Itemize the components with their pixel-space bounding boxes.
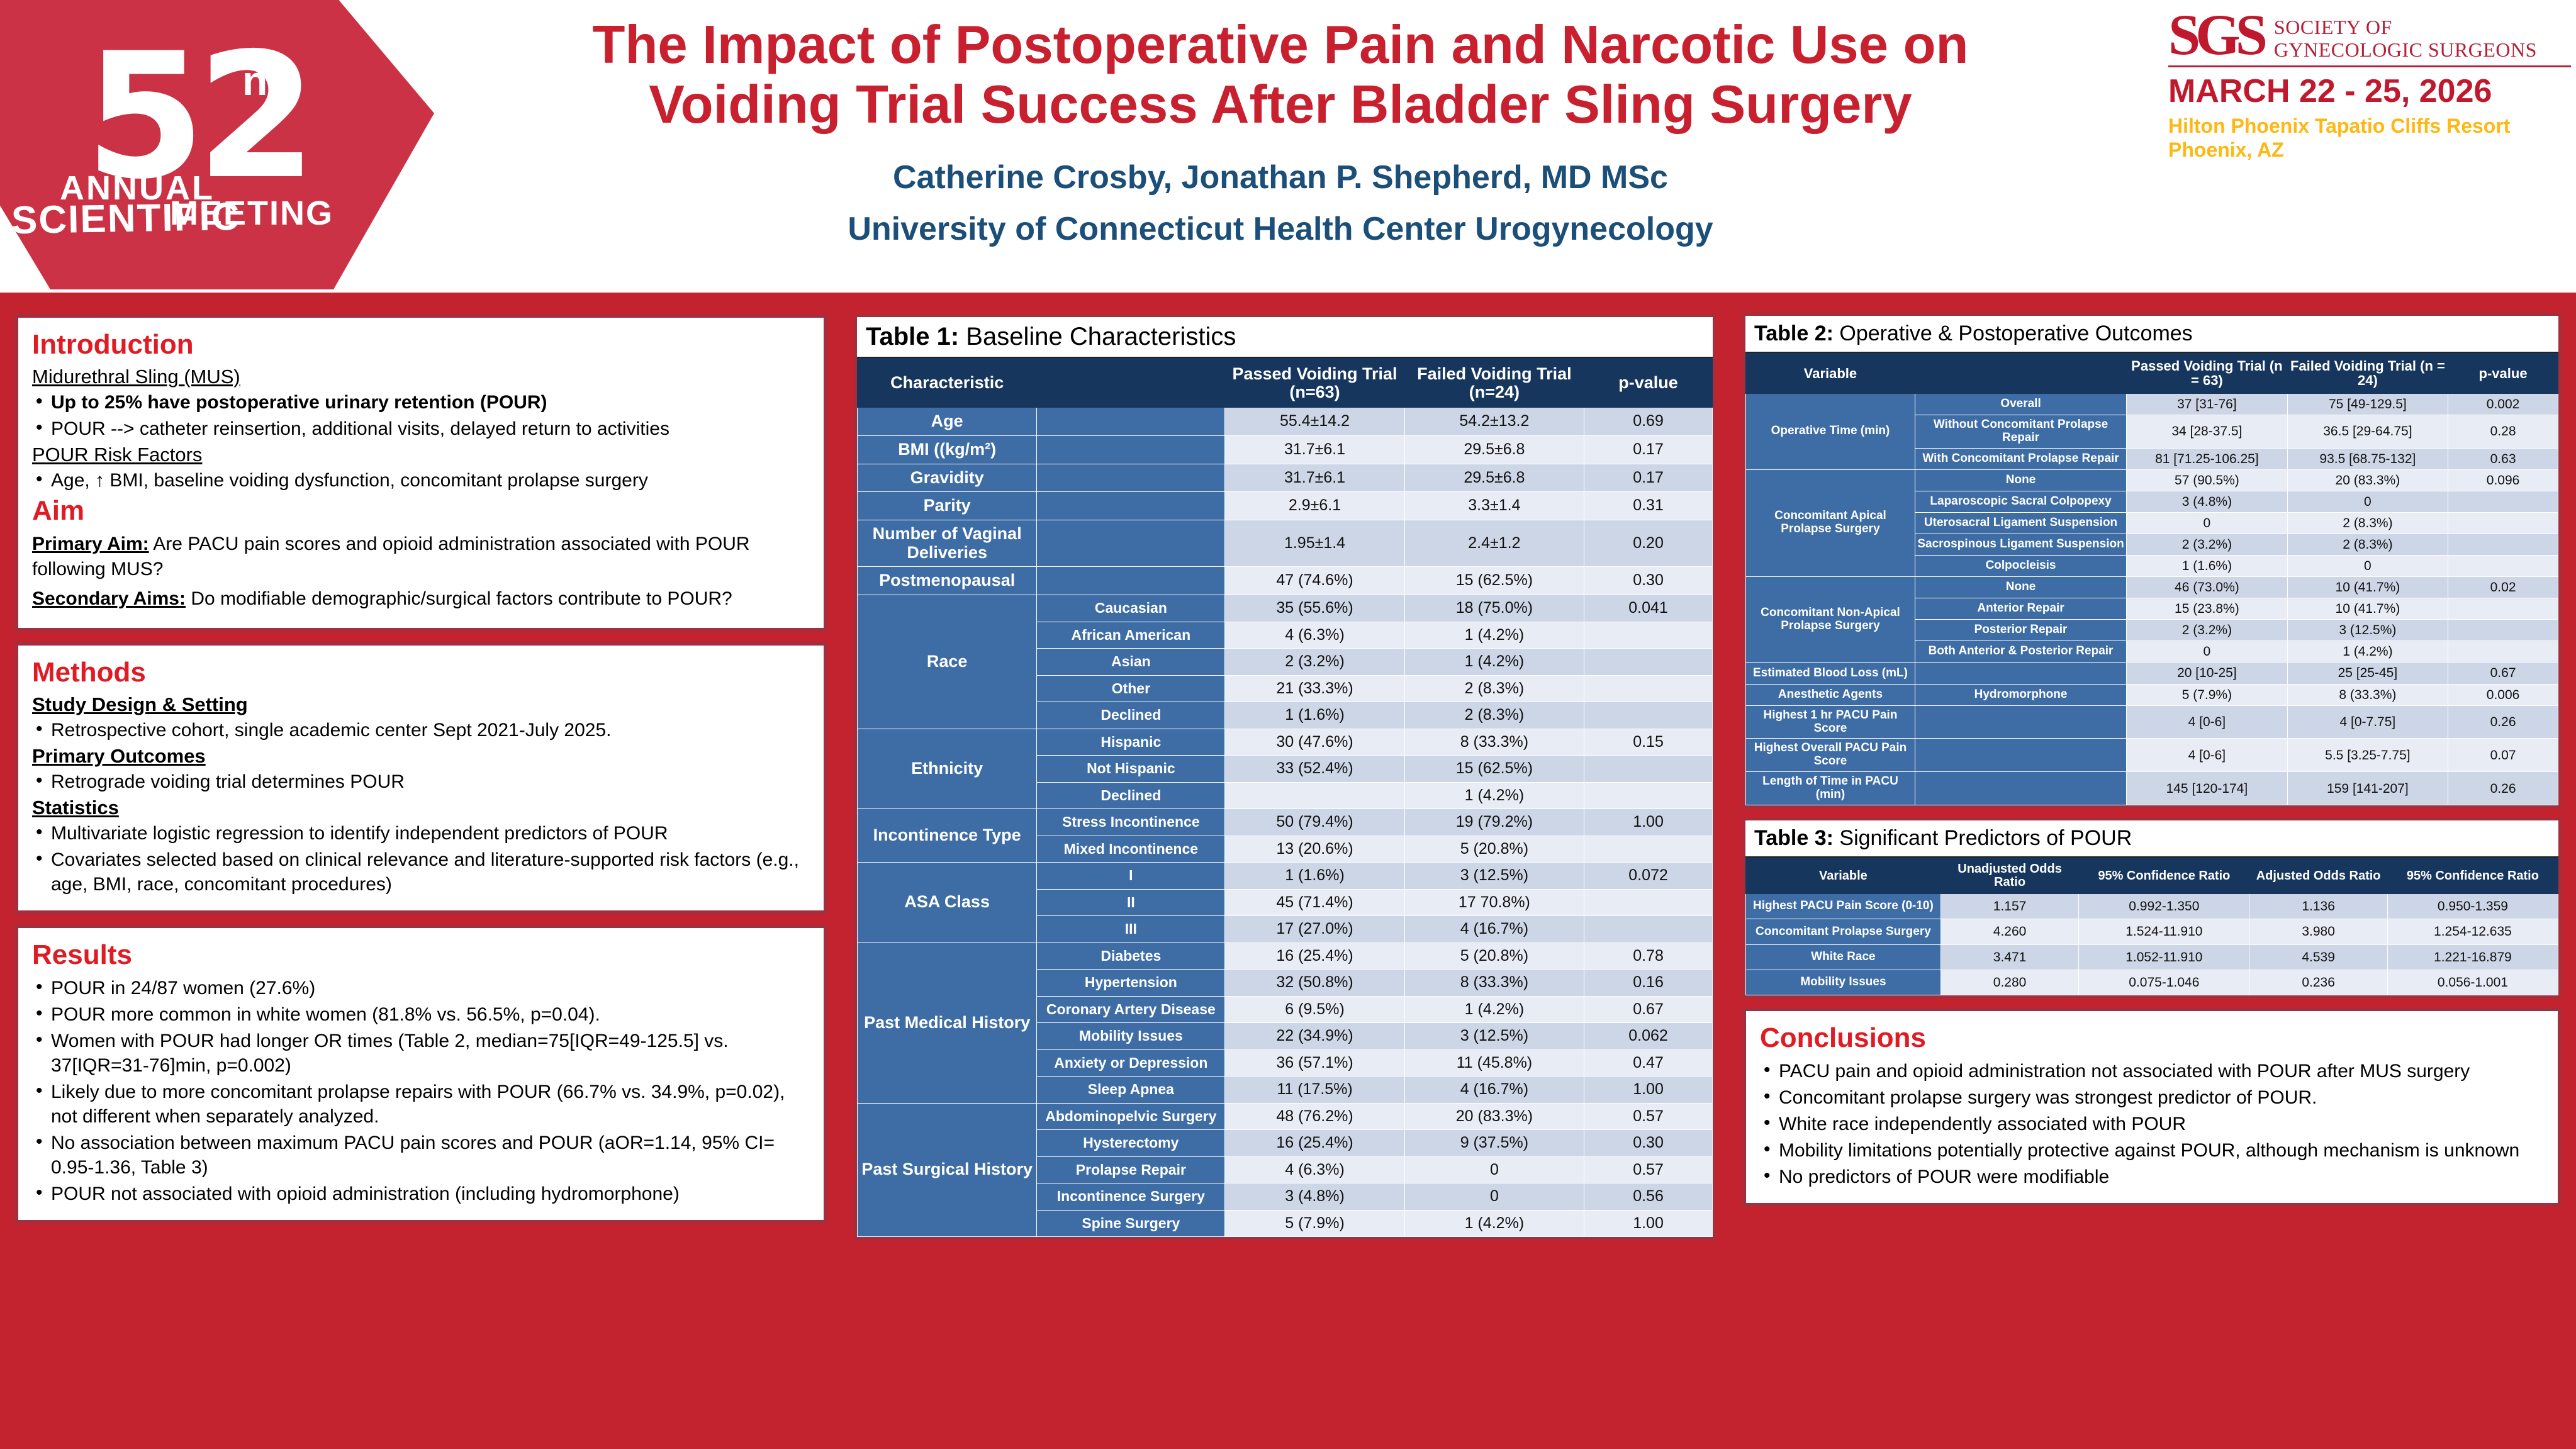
cell-p: 0.57 xyxy=(1584,1156,1713,1183)
cell-passed: 1 (1.6%) xyxy=(2127,555,2288,576)
cell-p: 0.69 xyxy=(1584,408,1713,436)
table-2-header-row: VariablePassed Voiding Trial (n = 63)Fai… xyxy=(1746,354,2558,394)
cell-p: 1.00 xyxy=(1584,1210,1713,1237)
results-heading: Results xyxy=(32,939,810,971)
cell-p xyxy=(2448,534,2558,555)
cell-p: 0.062 xyxy=(1584,1023,1713,1050)
row-sub-label: II xyxy=(1037,889,1225,916)
cell-failed: 3 (12.5%) xyxy=(2287,620,2448,641)
row-sub-label: Spine Surgery xyxy=(1037,1210,1225,1237)
row-sub-label: I xyxy=(1037,863,1225,890)
table-row: Incontinence TypeStress Incontinence50 (… xyxy=(858,809,1713,836)
row-sub-label: Hydromorphone xyxy=(1915,684,2126,705)
cell-failed: 10 (41.7%) xyxy=(2287,598,2448,620)
row-group-label: Highest 1 hr PACU Pain Score xyxy=(1746,705,1915,739)
cell-passed: 45 (71.4%) xyxy=(1225,889,1404,916)
row-sub-label: Colpocleisis xyxy=(1915,555,2126,576)
cell-p xyxy=(1584,889,1713,916)
list-item: Concomitant prolapse surgery was stronge… xyxy=(1760,1085,2544,1110)
cell-p xyxy=(1584,782,1713,809)
cell-passed: 50 (79.4%) xyxy=(1225,809,1404,836)
row-group-label: Postmenopausal xyxy=(858,567,1037,595)
cell-failed: 1 (4.2%) xyxy=(1404,1210,1584,1237)
cell-passed: 11 (17.5%) xyxy=(1225,1077,1404,1104)
table-row: EthnicityHispanic30 (47.6%)8 (33.3%)0.15 xyxy=(858,729,1713,756)
row-sub-label: Anxiety or Depression xyxy=(1037,1049,1225,1077)
column-header xyxy=(1037,359,1225,408)
cell-p: 0.30 xyxy=(1584,1130,1713,1157)
secondary-aim-text: Do modifiable demographic/surgical facto… xyxy=(186,588,732,609)
column-header: Failed Voiding Trial (n = 24) xyxy=(2287,354,2448,394)
row-group-label: Operative Time (min) xyxy=(1746,393,1915,469)
predictor-label: Highest PACU Pain Score (0-10) xyxy=(1746,894,1941,919)
cell-passed: 48 (76.2%) xyxy=(1225,1103,1404,1130)
table-row: Concomitant Apical Prolapse SurgeryNone5… xyxy=(1746,469,2558,491)
cell-failed: 3.3±1.4 xyxy=(1404,492,1584,520)
cell-p xyxy=(1584,916,1713,943)
predictor-label: Concomitant Prolapse Surgery xyxy=(1746,919,1941,944)
row-sub-label xyxy=(1915,772,2126,805)
table-row: Length of Time in PACU (min)145 [120-174… xyxy=(1746,772,2558,805)
cell-failed: 159 [141-207] xyxy=(2287,772,2448,805)
cell-p: 0.78 xyxy=(1584,943,1713,970)
list-item: POUR --> catheter reinsertion, additiona… xyxy=(32,417,810,441)
sgs-logo-block: SGS SOCIETY OF GYNECOLOGIC SURGEONS MARC… xyxy=(2168,10,2571,162)
cell-passed: 33 (52.4%) xyxy=(1225,756,1404,783)
cell-failed: 18 (75.0%) xyxy=(1404,595,1584,622)
row-sub-label: Laparoscopic Sacral Colpopexy xyxy=(1915,491,2126,512)
cell-p: 0.072 xyxy=(1584,863,1713,890)
cell-passed: 55.4±14.2 xyxy=(1225,408,1404,436)
methods-panel: Methods Study Design & Setting Retrospec… xyxy=(15,642,827,914)
cell-failed: 11 (45.8%) xyxy=(1404,1049,1584,1077)
row-sub-label: Declined xyxy=(1037,702,1225,729)
cell-passed: 36 (57.1%) xyxy=(1225,1049,1404,1077)
cell-failed: 10 (41.7%) xyxy=(2287,577,2448,598)
cell-passed: 30 (47.6%) xyxy=(1225,729,1404,756)
secondary-aim: Secondary Aims: Do modifiable demographi… xyxy=(32,586,810,612)
column-header: 95% Confidence Ratio xyxy=(2387,858,2558,893)
annual-meeting-logo: 52 nd ANNUAL SCIENTIFIC MEETING xyxy=(0,0,434,296)
cell-p: 0.26 xyxy=(2448,772,2558,805)
conclusions-bullets: PACU pain and opioid administration not … xyxy=(1760,1059,2544,1189)
table-row: Age55.4±14.254.2±13.20.69 xyxy=(858,408,1713,436)
cell-passed: 2 (3.2%) xyxy=(2127,534,2288,555)
cell-p xyxy=(2448,641,2558,663)
cell-failed: 17 70.8%) xyxy=(1404,889,1584,916)
right-column: Table 2: Operative & Postoperative Outco… xyxy=(1743,313,2561,1217)
row-sub-label: III xyxy=(1037,916,1225,943)
cell-failed: 19 (79.2%) xyxy=(1404,809,1584,836)
table-3-header-row: VariableUnadjusted Odds Ratio95% Confide… xyxy=(1746,858,2558,893)
meeting-date: MARCH 22 - 25, 2026 xyxy=(2168,75,2571,108)
table-row: Concomitant Non-Apical Prolapse SurgeryN… xyxy=(1746,577,2558,598)
row-sub-label: Not Hispanic xyxy=(1037,756,1225,783)
table-row: Mobility Issues0.2800.075-1.0460.2360.05… xyxy=(1746,970,2558,995)
cell-failed: 9 (37.5%) xyxy=(1404,1130,1584,1157)
row-group-label: Gravidity xyxy=(858,464,1037,492)
row-group-label: ASA Class xyxy=(858,863,1037,943)
cell-p: 0.02 xyxy=(2448,577,2558,598)
cell-passed: 47 (74.6%) xyxy=(1225,567,1404,595)
left-column: Introduction Midurethral Sling (MUS) Up … xyxy=(15,315,827,1234)
cell-failed: 0 xyxy=(1404,1156,1584,1183)
introduction-bullets-1: Up to 25% have postoperative urinary ret… xyxy=(32,390,810,441)
list-item: White race independently associated with… xyxy=(1760,1112,2544,1136)
cell-failed: 0 xyxy=(2287,491,2448,512)
cell-failed: 93.5 [68.75-132] xyxy=(2287,448,2448,469)
row-group-label: Parity xyxy=(858,492,1037,520)
cell-failed: 2 (8.3%) xyxy=(1404,675,1584,702)
list-item: Retrograde voiding trial determines POUR xyxy=(32,769,810,794)
row-sub-label: Incontinence Surgery xyxy=(1037,1183,1225,1211)
row-group-label: Length of Time in PACU (min) xyxy=(1746,772,1915,805)
row-sub-label: Sacrospinous Ligament Suspension xyxy=(1915,534,2126,555)
table-1-header-row: CharacteristicPassed Voiding Trial (n=63… xyxy=(858,359,1713,408)
row-group-label: Concomitant Non-Apical Prolapse Surgery xyxy=(1746,577,1915,663)
cell-passed: 2 (3.2%) xyxy=(2127,620,2288,641)
cell-passed: 31.7±6.1 xyxy=(1225,435,1404,464)
cell-passed: 3 (4.8%) xyxy=(1225,1183,1404,1211)
cell-passed: 4 [0-6] xyxy=(2127,739,2288,772)
list-item: Covariates selected based on clinical re… xyxy=(32,848,810,897)
cell-failed: 2.4±1.2 xyxy=(1404,520,1584,566)
cell-uci: 1.052-11.910 xyxy=(2079,944,2249,970)
cell-passed: 16 (25.4%) xyxy=(1225,943,1404,970)
cell-passed: 5 (7.9%) xyxy=(2127,684,2288,705)
cell-p xyxy=(2448,512,2558,534)
cell-p: 1.00 xyxy=(1584,809,1713,836)
meeting-venue: Hilton Phoenix Tapatio Cliffs Resort xyxy=(2168,114,2571,138)
cell-failed: 1 (4.2%) xyxy=(2287,641,2448,663)
list-item: Mobility limitations potentially protect… xyxy=(1760,1138,2544,1163)
cell-p: 0.28 xyxy=(2448,415,2558,448)
list-item: Multivariate logistic regression to iden… xyxy=(32,821,810,846)
cell-failed: 8 (33.3%) xyxy=(1404,970,1584,997)
row-sub-label: Abdominopelvic Surgery xyxy=(1037,1103,1225,1130)
cell-passed: 3 (4.8%) xyxy=(2127,491,2288,512)
introduction-panel: Introduction Midurethral Sling (MUS) Up … xyxy=(15,315,827,631)
cell-passed: 1.95±1.4 xyxy=(1225,520,1404,566)
methods-sub-design: Study Design & Setting xyxy=(32,693,810,716)
cell-p: 0.17 xyxy=(1584,464,1713,492)
table-2-title-text: Operative & Postoperative Outcomes xyxy=(1834,322,2193,345)
row-group-label: Concomitant Apical Prolapse Surgery xyxy=(1746,469,1915,576)
cell-passed: 35 (55.6%) xyxy=(1225,595,1404,622)
column-header: Unadjusted Odds Ratio xyxy=(1940,858,2078,893)
cell-p: 0.096 xyxy=(2448,469,2558,491)
column-header: Variable xyxy=(1746,354,1915,394)
row-group-label: Past Medical History xyxy=(858,943,1037,1103)
sgs-society-line2: GYNECOLOGIC SURGEONS xyxy=(2274,39,2537,62)
list-item: Up to 25% have postoperative urinary ret… xyxy=(32,390,810,415)
sgs-society-line1: SOCIETY OF xyxy=(2274,16,2537,39)
row-sub-label: Mixed Incontinence xyxy=(1037,836,1225,863)
cell-passed: 1 (1.6%) xyxy=(1225,863,1404,890)
row-sub-label: Sleep Apnea xyxy=(1037,1077,1225,1104)
table-3-container: Table 3: Significant Predictors of POUR … xyxy=(1743,818,2561,998)
introduction-heading: Introduction xyxy=(32,329,810,361)
cell-passed: 1 (1.6%) xyxy=(1225,702,1404,729)
table-3-title-text: Significant Predictors of POUR xyxy=(1834,826,2132,850)
cell-uci: 1.524-11.910 xyxy=(2079,919,2249,944)
cell-failed: 54.2±13.2 xyxy=(1404,408,1584,436)
cell-passed: 81 [71.25-106.25] xyxy=(2127,448,2288,469)
cell-failed: 20 (83.3%) xyxy=(2287,469,2448,491)
row-sub-label: Uterosacral Ligament Suspension xyxy=(1915,512,2126,534)
predictor-label: Mobility Issues xyxy=(1746,970,1941,995)
column-header: Passed Voiding Trial (n=63) xyxy=(1225,359,1404,408)
cell-uci: 0.075-1.046 xyxy=(2079,970,2249,995)
cell-failed: 4 [0-7.75] xyxy=(2287,705,2448,739)
table-1-title-text: Baseline Characteristics xyxy=(959,323,1236,350)
cell-passed: 4 (6.3%) xyxy=(1225,622,1404,649)
poster-title-line1: The Impact of Postoperative Pain and Nar… xyxy=(453,15,2108,75)
cell-passed: 5 (7.9%) xyxy=(1225,1210,1404,1237)
cell-p xyxy=(2448,555,2558,576)
row-sub-label: Other xyxy=(1037,675,1225,702)
row-sub-label: Hysterectomy xyxy=(1037,1130,1225,1157)
cell-passed xyxy=(1225,782,1404,809)
cell-p: 0.30 xyxy=(1584,567,1713,595)
cell-passed: 22 (34.9%) xyxy=(1225,1023,1404,1050)
row-group-label: Ethnicity xyxy=(858,729,1037,809)
list-item: No association between maximum PACU pain… xyxy=(32,1131,810,1180)
cell-passed: 0 xyxy=(2127,512,2288,534)
row-group-label: Estimated Blood Loss (mL) xyxy=(1746,663,1915,684)
cell-failed: 2 (8.3%) xyxy=(1404,702,1584,729)
cell-failed: 1 (4.2%) xyxy=(1404,782,1584,809)
list-item: POUR in 24/87 women (27.6%) xyxy=(32,976,810,1000)
list-item: PACU pain and opioid administration not … xyxy=(1760,1059,2544,1083)
cell-failed: 5.5 [3.25-7.75] xyxy=(2287,739,2448,772)
row-sub-label: Diabetes xyxy=(1037,943,1225,970)
table-row: Postmenopausal47 (74.6%)15 (62.5%)0.30 xyxy=(858,567,1713,595)
column-header: p-value xyxy=(2448,354,2558,394)
row-group-label: BMI ((kg/m²) xyxy=(858,435,1037,464)
table-row: Estimated Blood Loss (mL)20 [10-25]25 [2… xyxy=(1746,663,2558,684)
cell-p xyxy=(1584,675,1713,702)
cell-aci: 0.950-1.359 xyxy=(2387,894,2558,919)
cell-p: 0.15 xyxy=(1584,729,1713,756)
row-sub-label: Asian xyxy=(1037,649,1225,676)
cell-uor: 3.471 xyxy=(1940,944,2078,970)
table-row: Past Surgical HistoryAbdominopelvic Surg… xyxy=(858,1103,1713,1130)
affiliation: University of Connecticut Health Center … xyxy=(453,210,2108,248)
cell-uor: 1.157 xyxy=(1940,894,2078,919)
cell-failed: 5 (20.8%) xyxy=(1404,836,1584,863)
row-group-label: Age xyxy=(858,408,1037,436)
cell-passed: 0 xyxy=(2127,641,2288,663)
row-group-label: Incontinence Type xyxy=(858,809,1037,863)
row-sub-label: Stress Incontinence xyxy=(1037,809,1225,836)
row-sub-label: Coronary Artery Disease xyxy=(1037,996,1225,1023)
table-row: Parity2.9±6.13.3±1.40.31 xyxy=(858,492,1713,520)
cell-failed: 1 (4.2%) xyxy=(1404,996,1584,1023)
table-row: Operative Time (min)Overall37 [31-76]75 … xyxy=(1746,393,2558,415)
column-header: 95% Confidence Ratio xyxy=(2079,858,2249,893)
aim-heading: Aim xyxy=(32,495,810,527)
cell-passed: 15 (23.8%) xyxy=(2127,598,2288,620)
cell-failed: 0 xyxy=(1404,1183,1584,1211)
row-sub-label: Without Concomitant Prolapse Repair xyxy=(1915,415,2126,448)
row-sub-label: African American xyxy=(1037,622,1225,649)
row-sub-label xyxy=(1915,739,2126,772)
list-item: No predictors of POUR were modifiable xyxy=(1760,1165,2544,1189)
cell-failed: 3 (12.5%) xyxy=(1404,863,1584,890)
table-row: RaceCaucasian35 (55.6%)18 (75.0%)0.041 xyxy=(858,595,1713,622)
row-group-label: Number of Vaginal Deliveries xyxy=(858,520,1037,566)
cell-p: 0.07 xyxy=(2448,739,2558,772)
row-group-label: Past Surgical History xyxy=(858,1103,1037,1237)
logo-meeting-text: MEETING xyxy=(170,194,333,233)
meeting-ordinal: nd xyxy=(242,57,293,104)
table-1-container: Table 1: Baseline Characteristics Charac… xyxy=(854,315,1715,1239)
cell-p: 0.006 xyxy=(2448,684,2558,705)
cell-failed: 29.5±6.8 xyxy=(1404,435,1584,464)
cell-p: 1.00 xyxy=(1584,1077,1713,1104)
cell-p: 0.67 xyxy=(2448,663,2558,684)
methods-heading: Methods xyxy=(32,657,810,688)
cell-failed: 75 [49-129.5] xyxy=(2287,393,2448,415)
row-sub-label xyxy=(1037,492,1225,520)
cell-failed: 36.5 [29-64.75] xyxy=(2287,415,2448,448)
list-item: POUR not associated with opioid administ… xyxy=(32,1182,810,1206)
row-sub-label xyxy=(1915,663,2126,684)
cell-p xyxy=(1584,649,1713,676)
cell-failed: 5 (20.8%) xyxy=(1404,943,1584,970)
table-row: Past Medical HistoryDiabetes16 (25.4%)5 … xyxy=(858,943,1713,970)
cell-failed: 15 (62.5%) xyxy=(1404,756,1584,783)
cell-passed: 2.9±6.1 xyxy=(1225,492,1404,520)
cell-aor: 1.136 xyxy=(2249,894,2387,919)
row-sub-label xyxy=(1037,464,1225,492)
cell-uor: 4.260 xyxy=(1940,919,2078,944)
cell-passed: 46 (73.0%) xyxy=(2127,577,2288,598)
cell-failed: 4 (16.7%) xyxy=(1404,1077,1584,1104)
cell-failed: 29.5±6.8 xyxy=(1404,464,1584,492)
table-row: Number of Vaginal Deliveries1.95±1.42.4±… xyxy=(858,520,1713,566)
table-2: VariablePassed Voiding Trial (n = 63)Fai… xyxy=(1745,353,2558,805)
cell-passed: 16 (25.4%) xyxy=(1225,1130,1404,1157)
meeting-city: Phoenix, AZ xyxy=(2168,138,2571,162)
cell-aci: 0.056-1.001 xyxy=(2387,970,2558,995)
row-sub-label: Overall xyxy=(1915,393,2126,415)
column-header: Failed Voiding Trial (n=24) xyxy=(1404,359,1584,408)
row-sub-label: None xyxy=(1915,469,2126,491)
cell-failed: 1 (4.2%) xyxy=(1404,649,1584,676)
table-row: Anesthetic AgentsHydromorphone5 (7.9%)8 … xyxy=(1746,684,2558,705)
methods-sub-statistics: Statistics xyxy=(32,797,810,819)
table-1-title-label: Table 1: xyxy=(866,323,959,350)
table-row: Highest PACU Pain Score (0-10)1.1570.992… xyxy=(1746,894,2558,919)
cell-aor: 0.236 xyxy=(2249,970,2387,995)
cell-p xyxy=(1584,622,1713,649)
conclusions-heading: Conclusions xyxy=(1760,1022,2544,1054)
column-header: Characteristic xyxy=(858,359,1037,408)
cell-failed: 15 (62.5%) xyxy=(1404,567,1584,595)
table-row: White Race3.4711.052-11.9104.5391.221-16… xyxy=(1746,944,2558,970)
cell-aci: 1.221-16.879 xyxy=(2387,944,2558,970)
title-block: The Impact of Postoperative Pain and Nar… xyxy=(453,15,2108,248)
row-group-label: Anesthetic Agents xyxy=(1746,684,1915,705)
list-item: Women with POUR had longer OR times (Tab… xyxy=(32,1029,810,1078)
cell-failed: 0 xyxy=(2287,555,2448,576)
cell-p xyxy=(2448,620,2558,641)
cell-failed: 8 (33.3%) xyxy=(2287,684,2448,705)
cell-passed: 13 (20.6%) xyxy=(1225,836,1404,863)
methods-sub-outcomes: Primary Outcomes xyxy=(32,745,810,768)
cell-passed: 57 (90.5%) xyxy=(2127,469,2288,491)
table-row: Concomitant Prolapse Surgery4.2601.524-1… xyxy=(1746,919,2558,944)
cell-passed: 31.7±6.1 xyxy=(1225,464,1404,492)
cell-p xyxy=(1584,702,1713,729)
table-1: CharacteristicPassed Voiding Trial (n=63… xyxy=(857,358,1713,1237)
table-3-title-label: Table 3: xyxy=(1754,826,1834,850)
cell-p: 0.47 xyxy=(1584,1049,1713,1077)
cell-passed: 17 (27.0%) xyxy=(1225,916,1404,943)
table-row: ASA ClassI1 (1.6%)3 (12.5%)0.072 xyxy=(858,863,1713,890)
list-item: Likely due to more concomitant prolapse … xyxy=(32,1080,810,1129)
table-2-title-label: Table 2: xyxy=(1754,322,1834,345)
cell-passed: 6 (9.5%) xyxy=(1225,996,1404,1023)
table-2-title: Table 2: Operative & Postoperative Outco… xyxy=(1745,316,2558,353)
cell-p: 0.16 xyxy=(1584,970,1713,997)
row-sub-label xyxy=(1037,567,1225,595)
row-sub-label xyxy=(1915,705,2126,739)
table-3-title: Table 3: Significant Predictors of POUR xyxy=(1745,820,2558,858)
table-row: Gravidity31.7±6.129.5±6.80.17 xyxy=(858,464,1713,492)
row-sub-label: Caucasian xyxy=(1037,595,1225,622)
cell-p: 0.17 xyxy=(1584,435,1713,464)
row-sub-label xyxy=(1037,435,1225,464)
cell-aor: 3.980 xyxy=(2249,919,2387,944)
cell-p: 0.002 xyxy=(2448,393,2558,415)
cell-p: 0.56 xyxy=(1584,1183,1713,1211)
list-item: Age, ↑ BMI, baseline voiding dysfunction… xyxy=(32,468,810,493)
column-header: Variable xyxy=(1746,858,1941,893)
cell-failed: 4 (16.7%) xyxy=(1404,916,1584,943)
row-sub-label: With Concomitant Prolapse Repair xyxy=(1915,448,2126,469)
cell-failed: 1 (4.2%) xyxy=(1404,622,1584,649)
cell-failed: 8 (33.3%) xyxy=(1404,729,1584,756)
introduction-bullets-2: Age, ↑ BMI, baseline voiding dysfunction… xyxy=(32,468,810,493)
column-header: p-value xyxy=(1584,359,1713,408)
primary-aim: Primary Aim: Are PACU pain scores and op… xyxy=(32,532,810,582)
conclusions-panel: Conclusions PACU pain and opioid adminis… xyxy=(1743,1008,2561,1206)
list-item: POUR more common in white women (81.8% v… xyxy=(32,1002,810,1027)
cell-passed: 4 (6.3%) xyxy=(1225,1156,1404,1183)
row-group-label: Race xyxy=(858,595,1037,729)
table-3: VariableUnadjusted Odds Ratio95% Confide… xyxy=(1745,858,2558,995)
row-sub-label: Prolapse Repair xyxy=(1037,1156,1225,1183)
cell-p: 0.31 xyxy=(1584,492,1713,520)
cell-p: 0.67 xyxy=(1584,996,1713,1023)
row-sub-label: Mobility Issues xyxy=(1037,1023,1225,1050)
column-header: Passed Voiding Trial (n = 63) xyxy=(2127,354,2288,394)
column-header xyxy=(1915,354,2126,394)
cell-p: 0.20 xyxy=(1584,520,1713,566)
results-bullets: POUR in 24/87 women (27.6%)POUR more com… xyxy=(32,976,810,1206)
cell-aor: 4.539 xyxy=(2249,944,2387,970)
cell-failed: 25 [25-45] xyxy=(2287,663,2448,684)
cell-failed: 3 (12.5%) xyxy=(1404,1023,1584,1050)
cell-p xyxy=(1584,836,1713,863)
predictor-label: White Race xyxy=(1746,944,1941,970)
cell-failed: 2 (8.3%) xyxy=(2287,512,2448,534)
row-sub-label: Both Anterior & Posterior Repair xyxy=(1915,641,2126,663)
cell-p: 0.26 xyxy=(2448,705,2558,739)
